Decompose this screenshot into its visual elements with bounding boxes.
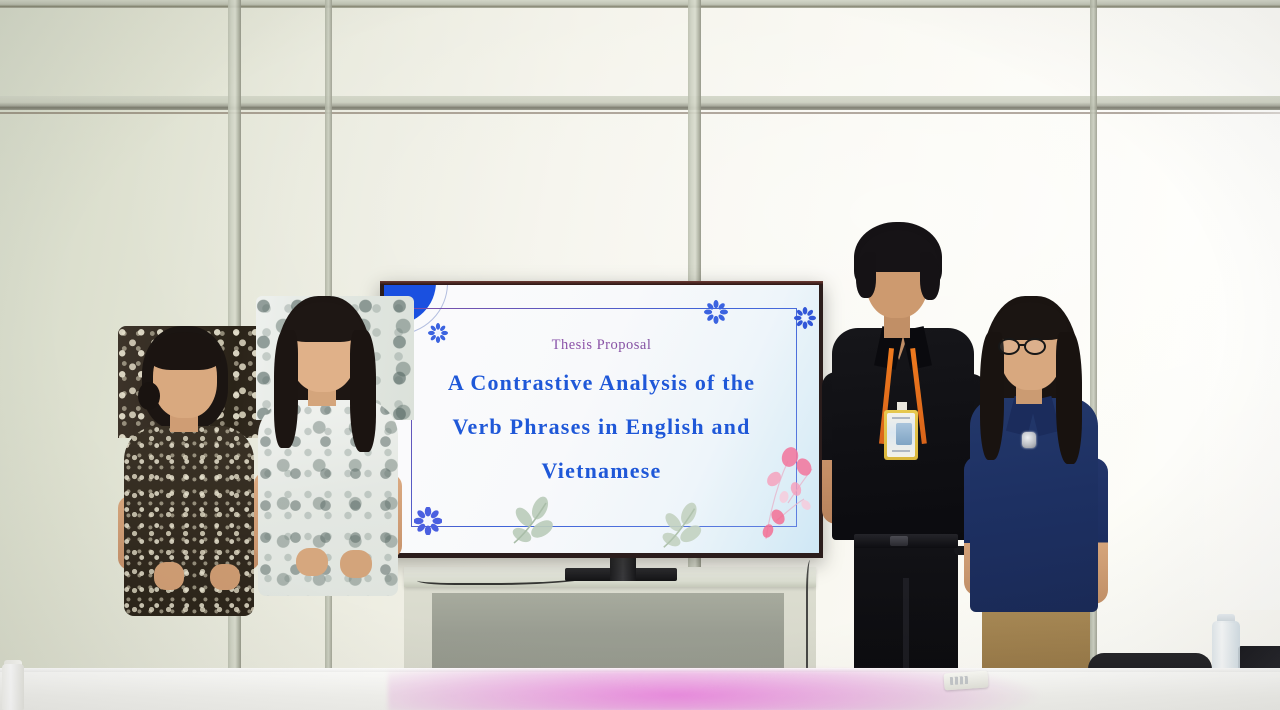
slide-title-line-2: Verb Phrases in English and (384, 414, 819, 440)
hair-left (856, 252, 876, 298)
table-pink-glow (388, 670, 1108, 710)
tv-stand-neck (610, 558, 636, 581)
eyeglasses-bridge (1019, 344, 1026, 346)
id-badge-text-line (892, 450, 910, 452)
hair-bun (138, 382, 160, 410)
person-woman-grey-floral-dress (256, 296, 421, 710)
slide-text-block: Thesis Proposal A Contrastive Analysis o… (384, 337, 819, 484)
hand-right (340, 550, 372, 578)
id-badge-card (887, 413, 915, 457)
wall-panel-seam-upper (0, 112, 1280, 114)
remote-buttons[interactable] (950, 676, 969, 685)
hand-right (210, 564, 240, 590)
wall-mullion-horizontal-top (0, 0, 1280, 8)
slide-title-line-1: A Contrastive Analysis of the (384, 370, 819, 396)
brooch (1022, 432, 1036, 448)
slide-kicker: Thesis Proposal (384, 337, 819, 354)
remote-control[interactable] (943, 670, 988, 690)
tv-screen: Thesis Proposal A Contrastive Analysis o… (384, 285, 819, 553)
id-badge-photo (896, 423, 912, 445)
id-badge (884, 410, 918, 460)
paper-cup-left[interactable] (2, 664, 24, 710)
person-man-black-shirt-lanyard (826, 222, 986, 710)
leaf-sprig-icon (656, 501, 712, 553)
belt-buckle (890, 536, 908, 546)
television[interactable]: Thesis Proposal A Contrastive Analysis o… (380, 281, 823, 558)
hand-left (154, 562, 184, 590)
hair-right (350, 330, 376, 452)
person-woman-navy-blouse-glasses (966, 296, 1116, 710)
photo-scene: Thesis Proposal A Contrastive Analysis o… (0, 0, 1280, 710)
slide-title-line-3: Vietnamese (384, 458, 819, 484)
hair-left (274, 330, 298, 448)
eyeglasses-lens-right (1024, 338, 1046, 355)
leaf-sprig-icon (506, 495, 564, 553)
wall-mullion-horizontal-upper (0, 96, 1280, 110)
hand-left (296, 548, 328, 576)
id-badge-text-line (892, 417, 910, 419)
eyeglasses-lens-left (998, 338, 1020, 355)
power-cable-right (806, 560, 820, 668)
hair-right (1056, 332, 1082, 464)
